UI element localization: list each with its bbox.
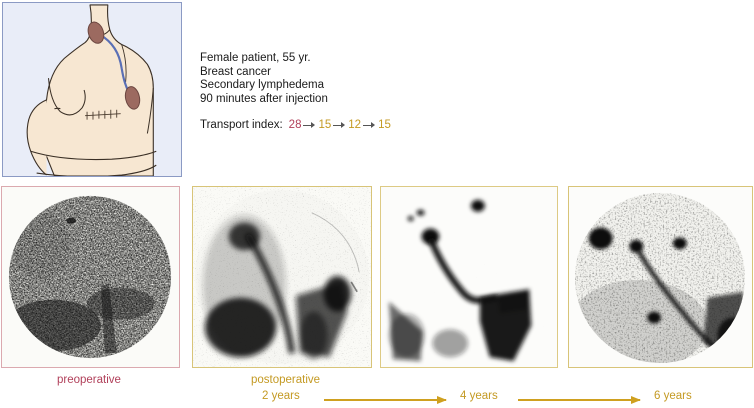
transport-index-label: Transport index: bbox=[200, 119, 283, 131]
arrow-right-icon bbox=[303, 121, 316, 130]
clinical-line-diagnosis: Breast cancer bbox=[200, 66, 460, 80]
scintigram-preoperative bbox=[1, 186, 180, 368]
caption-6-years: 6 years bbox=[654, 390, 692, 402]
scintigram-postoperative-4-years bbox=[380, 186, 558, 368]
caption-preoperative: preoperative bbox=[57, 374, 121, 386]
scintigram-4-years-image bbox=[381, 187, 557, 367]
transport-index-value-2years: 15 bbox=[318, 119, 331, 131]
scintigram-postoperative-2-years bbox=[192, 186, 372, 368]
arrow-right-icon bbox=[363, 121, 376, 130]
clinical-line-condition: Secondary lymphedema bbox=[200, 79, 460, 93]
scintigram-preoperative-image bbox=[2, 187, 179, 367]
anatomy-diagram-panel bbox=[2, 2, 182, 177]
timeline-arrow-4-to-6-years-icon bbox=[518, 396, 640, 405]
caption-2-years: 2 years bbox=[262, 390, 300, 402]
arrow-right-icon bbox=[333, 121, 346, 130]
transport-index-row: Transport index: 28 15 12 15 bbox=[200, 119, 391, 131]
anatomy-diagram-svg bbox=[3, 3, 181, 176]
caption-4-years: 4 years bbox=[460, 390, 498, 402]
clinical-line-timing: 90 minutes after injection bbox=[200, 93, 460, 107]
caption-postoperative: postoperative bbox=[251, 374, 320, 386]
clinical-info-block: Female patient, 55 yr. Breast cancer Sec… bbox=[200, 52, 460, 106]
transport-index-value-4years: 12 bbox=[348, 119, 361, 131]
scintigram-postoperative-6-years: r bbox=[568, 186, 753, 368]
timeline-arrow-2-to-4-years-icon bbox=[324, 396, 446, 405]
transport-index-value-preoperative: 28 bbox=[289, 119, 302, 131]
transport-index-value-6years: 15 bbox=[378, 119, 391, 131]
scintigram-6-years-image: r bbox=[569, 187, 752, 367]
scintigram-2-years-image bbox=[193, 187, 371, 367]
clinical-line-patient: Female patient, 55 yr. bbox=[200, 52, 460, 66]
